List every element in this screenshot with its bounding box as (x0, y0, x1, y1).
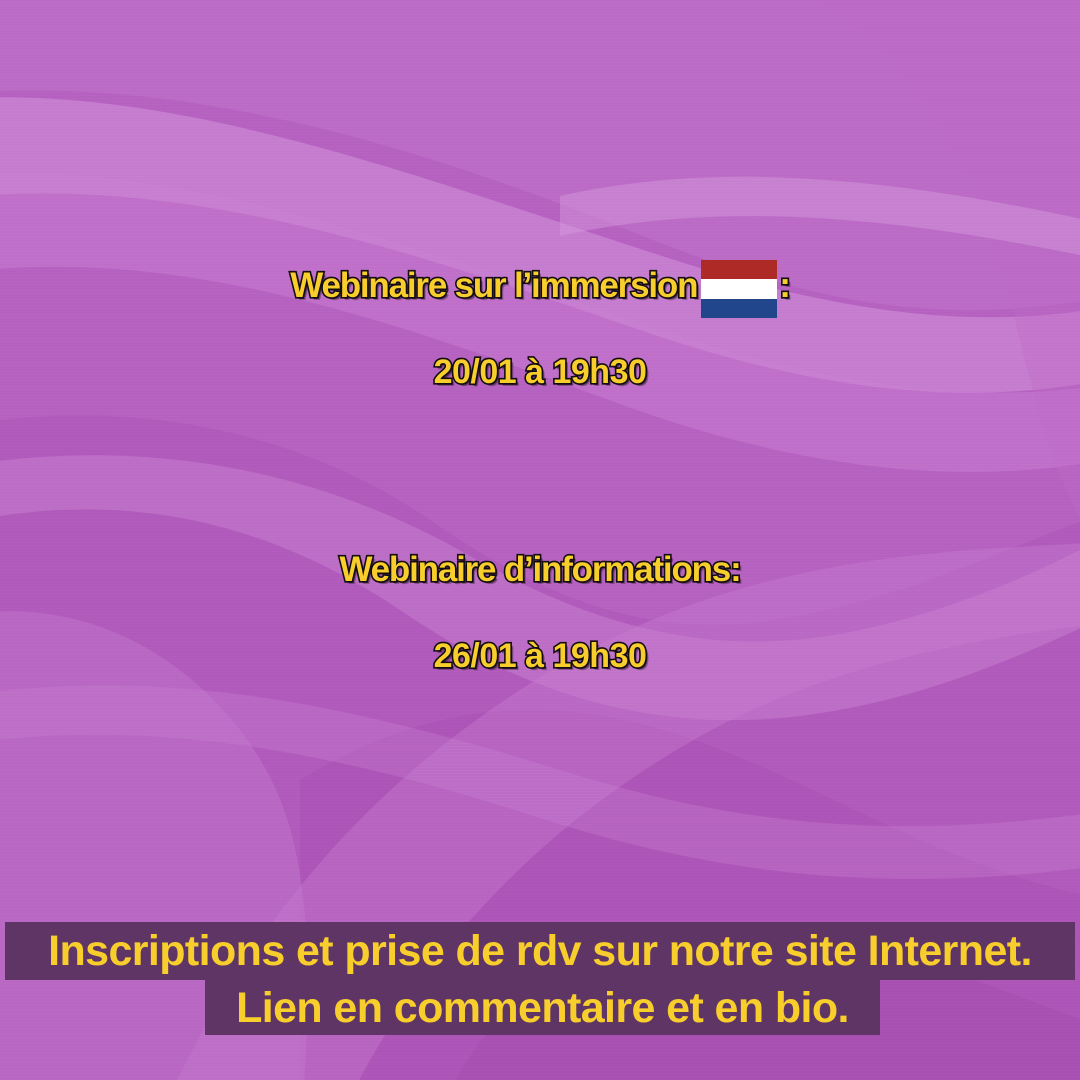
netherlands-flag-icon (701, 260, 777, 319)
headline-title-informations: Webinaire d’informations: (14, 528, 1066, 612)
poster-canvas: Webinaire sur l’immersion : 20/01 à 19h3… (0, 0, 1080, 1080)
headline-colon-1: : (779, 244, 789, 328)
headline-block-informations: Webinaire d’informations: 26/01 à 19h30 (0, 528, 1080, 700)
footer-text-link: Lien en commentaire et en bio. (236, 984, 849, 1032)
headline-title-immersion: Webinaire sur l’immersion (290, 244, 697, 328)
footer-banner-row-1: Inscriptions et prise de rdv sur notre s… (5, 922, 1075, 980)
headline-date-informations: 26/01 à 19h30 (14, 612, 1066, 700)
footer-banner-row-2: Lien en commentaire et en bio. (205, 980, 880, 1035)
headline-title-row-1: Webinaire sur l’immersion : (14, 244, 1066, 328)
flag-stripe-blue (701, 299, 777, 319)
footer-text-registration: Inscriptions et prise de rdv sur notre s… (48, 927, 1032, 975)
headline-block-immersion: Webinaire sur l’immersion : 20/01 à 19h3… (0, 244, 1080, 416)
footer-banner: Inscriptions et prise de rdv sur notre s… (0, 900, 1080, 1080)
flag-stripe-white (701, 279, 777, 299)
headline-date-immersion: 20/01 à 19h30 (14, 328, 1066, 416)
flag-stripe-red (701, 260, 777, 280)
